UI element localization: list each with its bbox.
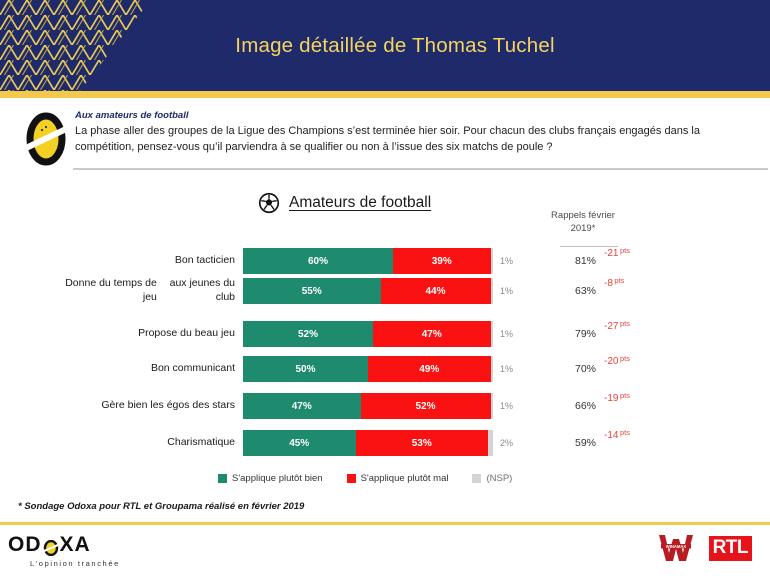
legend-item[interactable]: (NSP) — [472, 473, 512, 484]
chart-legend: S'applique plutôt bienS'applique plutôt … — [218, 473, 512, 484]
odoxa-tagline: L'opinion tranchée — [30, 559, 208, 568]
question-audience: Aux amateurs de football — [75, 110, 755, 121]
chart-row: Bon communicant50%49%1%70%-20pts — [0, 356, 770, 382]
bar-segment-applies-well: 47% — [243, 393, 361, 419]
question-text: La phase aller des groupes de la Ligue d… — [75, 124, 755, 156]
odoxa-footer-logo: OD XA L'opinion tranchée — [8, 533, 208, 568]
chart-title: Amateurs de football — [258, 192, 431, 214]
bar-segment-nsp — [491, 393, 494, 419]
stacked-bar[interactable]: 60%39% — [243, 248, 493, 274]
delta-value: -19pts — [604, 393, 652, 419]
legend-label: S'applique plutôt mal — [361, 473, 449, 484]
bar-segment-applies-well: 50% — [243, 356, 368, 382]
nsp-value: 2% — [500, 430, 513, 456]
rappel-value: 59% — [556, 430, 596, 456]
nsp-value: 1% — [500, 278, 513, 304]
legend-swatch-icon — [347, 474, 356, 483]
row-label: Gère bien les égos des stars — [60, 393, 235, 419]
nsp-value: 1% — [500, 393, 513, 419]
rappel-value: 70% — [556, 356, 596, 382]
nsp-value: 1% — [500, 321, 513, 347]
odoxa-logo-icon — [24, 112, 68, 166]
bar-segment-nsp — [491, 356, 494, 382]
winamax-logo-icon: WINAMAX — [657, 533, 695, 563]
bar-segment-applies-poorly: 39% — [393, 248, 491, 274]
chart-row: Charismatique45%53%2%59%-14pts — [0, 430, 770, 456]
bar-segment-applies-poorly: 44% — [381, 278, 491, 304]
stacked-bar[interactable]: 55%44% — [243, 278, 493, 304]
bar-segment-nsp — [491, 248, 494, 274]
rappel-value: 81% — [556, 248, 596, 274]
rtl-logo: RTL — [709, 536, 752, 561]
rappel-value: 79% — [556, 321, 596, 347]
bar-segment-applies-well: 60% — [243, 248, 393, 274]
odoxa-wordmark-right: XA — [60, 533, 91, 557]
page-header: Image détaillée de Thomas Tuchel — [0, 0, 770, 91]
delta-value: -27pts — [604, 321, 652, 347]
chart-row: Gère bien les égos des stars47%52%1%66%-… — [0, 393, 770, 419]
odoxa-o-icon — [43, 538, 59, 554]
header-accent-band — [0, 91, 770, 98]
chart-row: Bon tacticien60%39%1%81%-21pts — [0, 248, 770, 274]
row-label: Charismatique — [60, 430, 235, 456]
legend-item[interactable]: S'applique plutôt mal — [347, 473, 449, 484]
rappel-value: 66% — [556, 393, 596, 419]
bar-segment-applies-poorly: 52% — [361, 393, 491, 419]
bar-segment-nsp — [488, 430, 493, 456]
rappel-value: 63% — [556, 278, 596, 304]
stacked-bar[interactable]: 47%52% — [243, 393, 493, 419]
legend-item[interactable]: S'applique plutôt bien — [218, 473, 323, 484]
bar-segment-applies-poorly: 49% — [368, 356, 491, 382]
question-block: Aux amateurs de football La phase aller … — [0, 104, 770, 174]
delta-value: -8pts — [604, 278, 652, 304]
rappels-column-header: Rappels février 2019* — [533, 210, 633, 236]
partner-logos: WINAMAX RTL — [657, 533, 752, 563]
legend-label: (NSP) — [486, 473, 512, 484]
rappels-header-divider — [560, 246, 618, 247]
bar-segment-applies-well: 45% — [243, 430, 356, 456]
row-label: Bon communicant — [60, 356, 235, 382]
question-divider — [73, 168, 768, 170]
soccer-ball-icon — [258, 192, 280, 214]
bar-segment-nsp — [491, 321, 494, 347]
bar-segment-applies-poorly: 53% — [356, 430, 489, 456]
delta-value: -21pts — [604, 248, 652, 274]
bar-segment-applies-poorly: 47% — [373, 321, 491, 347]
stacked-bar[interactable]: 45%53% — [243, 430, 493, 456]
bar-segment-nsp — [491, 278, 494, 304]
footer-accent-band — [0, 522, 770, 525]
legend-label: S'applique plutôt bien — [232, 473, 323, 484]
delta-value: -14pts — [604, 430, 652, 456]
row-label: Bon tacticien — [60, 248, 235, 274]
chart-title-text: Amateurs de football — [289, 194, 431, 212]
bar-segment-applies-well: 52% — [243, 321, 373, 347]
nsp-value: 1% — [500, 356, 513, 382]
legend-swatch-icon — [472, 474, 481, 483]
chart-row: Propose du beau jeu52%47%1%79%-27pts — [0, 321, 770, 347]
chart-region: Amateurs de football Rappels février 201… — [0, 178, 770, 496]
legend-swatch-icon — [218, 474, 227, 483]
svg-text:WINAMAX: WINAMAX — [665, 544, 686, 549]
stacked-bar[interactable]: 50%49% — [243, 356, 493, 382]
row-label: Propose du beau jeu — [60, 321, 235, 347]
odoxa-wordmark-left: OD — [8, 533, 42, 557]
delta-value: -20pts — [604, 356, 652, 382]
footnote: * Sondage Odoxa pour RTL et Groupama réa… — [18, 501, 304, 512]
page-title: Image détaillée de Thomas Tuchel — [0, 0, 770, 91]
bar-segment-applies-well: 55% — [243, 278, 381, 304]
row-label: Donne du temps de jeuaux jeunes du club — [60, 278, 235, 304]
chart-row: Donne du temps de jeuaux jeunes du club5… — [0, 278, 770, 304]
nsp-value: 1% — [500, 248, 513, 274]
stacked-bar[interactable]: 52%47% — [243, 321, 493, 347]
